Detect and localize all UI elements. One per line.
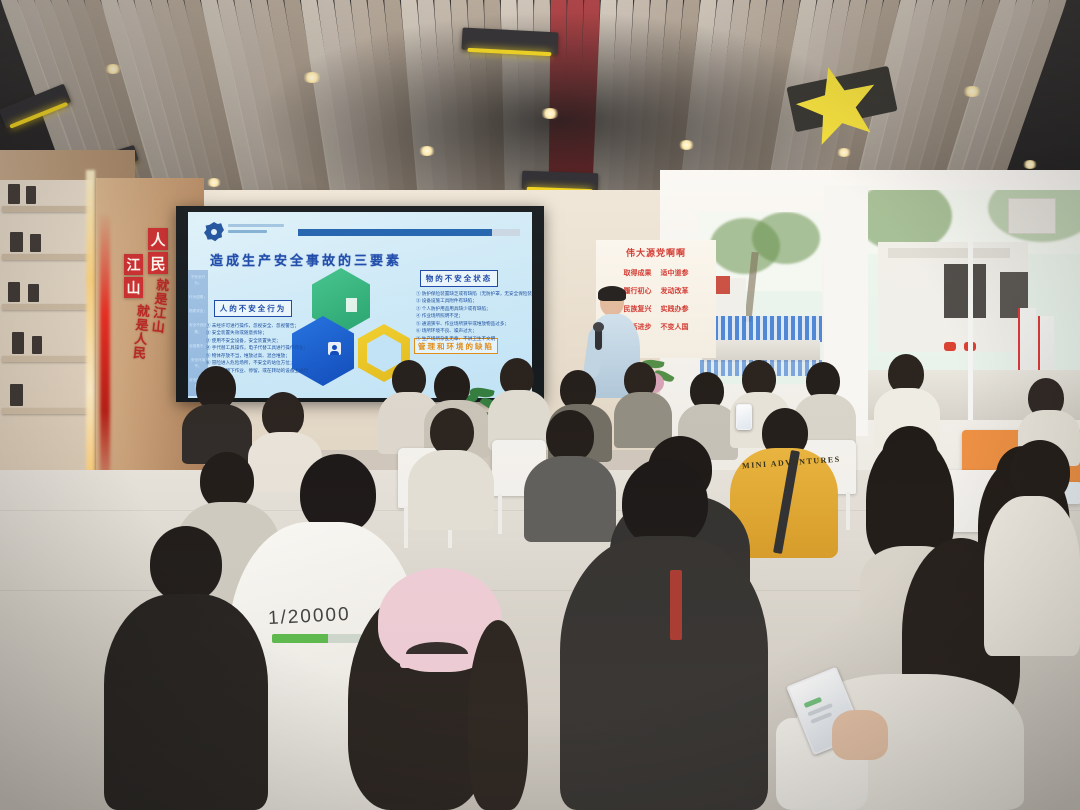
panel-cell: 适中道参 bbox=[661, 268, 689, 278]
panel-heading: 伟大源党啊啊 bbox=[596, 246, 716, 259]
side-line: 不安全行为； bbox=[188, 270, 208, 290]
shelf-product bbox=[26, 186, 36, 204]
downlight bbox=[302, 72, 322, 83]
speaker-hair bbox=[598, 286, 626, 301]
panel-row: 取得成果 适中道参 bbox=[596, 268, 716, 278]
hand bbox=[832, 710, 888, 760]
shelf-product bbox=[30, 234, 41, 252]
calligraphy-block-shan: 山 bbox=[124, 277, 143, 298]
downlight bbox=[418, 146, 436, 156]
downlight bbox=[206, 178, 222, 187]
shelf-product bbox=[8, 282, 20, 302]
linear-light-fixture bbox=[461, 28, 558, 55]
bullet-line: ① 未经许可进行操作，忽视安全、忽视警告； bbox=[206, 322, 308, 329]
audience-row-front: 1/20000 bbox=[0, 430, 1080, 810]
ac-unit bbox=[1008, 198, 1056, 234]
brand-wordmark bbox=[228, 224, 284, 236]
shelf-product bbox=[28, 284, 39, 302]
bullet-line: ④ 作业场所照明不足； bbox=[416, 312, 532, 319]
doorway-dark bbox=[944, 264, 986, 318]
bullet-line: ② 设备设施工具附件有缺陷； bbox=[416, 297, 532, 304]
calligraphy-block-min: 民 bbox=[148, 252, 168, 274]
bullet-line: ① 防护保险装置缺乏或有缺陷（无防护罩，无安全保险装置）； bbox=[416, 290, 532, 297]
shelf-product bbox=[10, 232, 23, 252]
shopfront-sign bbox=[888, 248, 1010, 258]
label-object-unsafe-state: 物的不安全状态 bbox=[420, 270, 498, 287]
calligraphy-block-jiang: 江 bbox=[124, 254, 143, 275]
panel-cell: 取得成果 bbox=[624, 268, 652, 278]
panel-cell: 实践办参 bbox=[661, 304, 689, 314]
torso bbox=[104, 594, 268, 810]
bullet-line: ⑤ 通道狭窄、作业场所狭窄或堆放物品过多； bbox=[416, 320, 532, 327]
head bbox=[150, 526, 222, 602]
downlight bbox=[540, 108, 560, 119]
slide-header-bar bbox=[298, 229, 520, 236]
linear-light-fixture bbox=[522, 171, 599, 192]
downlight bbox=[836, 148, 852, 157]
photo-scene: 人 民 江 山 就是江山 就是人民 bbox=[0, 0, 1080, 810]
side-line: 物质状态； bbox=[188, 304, 208, 318]
pink-cap-person bbox=[348, 568, 538, 810]
slide-title: 造成生产安全事故的三要素 bbox=[210, 250, 402, 269]
organization-emblem-icon bbox=[204, 222, 224, 242]
tshirt-text: 1/20000 bbox=[267, 604, 351, 630]
downlight bbox=[678, 140, 695, 150]
tree-foliage bbox=[752, 212, 820, 264]
side-line: 行为因素； bbox=[188, 290, 208, 304]
torso bbox=[560, 536, 768, 810]
bullet-line: ③ 个人防护用品用具缺少或有缺陷； bbox=[416, 305, 532, 312]
shelf-product bbox=[8, 184, 20, 204]
downlight bbox=[1022, 160, 1038, 169]
torso bbox=[984, 496, 1080, 656]
calligraphy-block-ren: 人 bbox=[148, 228, 168, 250]
downlight bbox=[104, 64, 122, 74]
head bbox=[1010, 440, 1070, 504]
panel-cell: 发动改革 bbox=[661, 286, 689, 296]
downlight bbox=[962, 86, 982, 97]
head bbox=[622, 458, 708, 548]
long-hair-right bbox=[468, 620, 528, 810]
red-stripe bbox=[670, 570, 682, 640]
calligraphy-script-line1: 就是江山 bbox=[150, 277, 169, 334]
cap-strap bbox=[400, 654, 480, 668]
label-human-unsafe-behavior: 人的不安全行为 bbox=[214, 300, 292, 317]
